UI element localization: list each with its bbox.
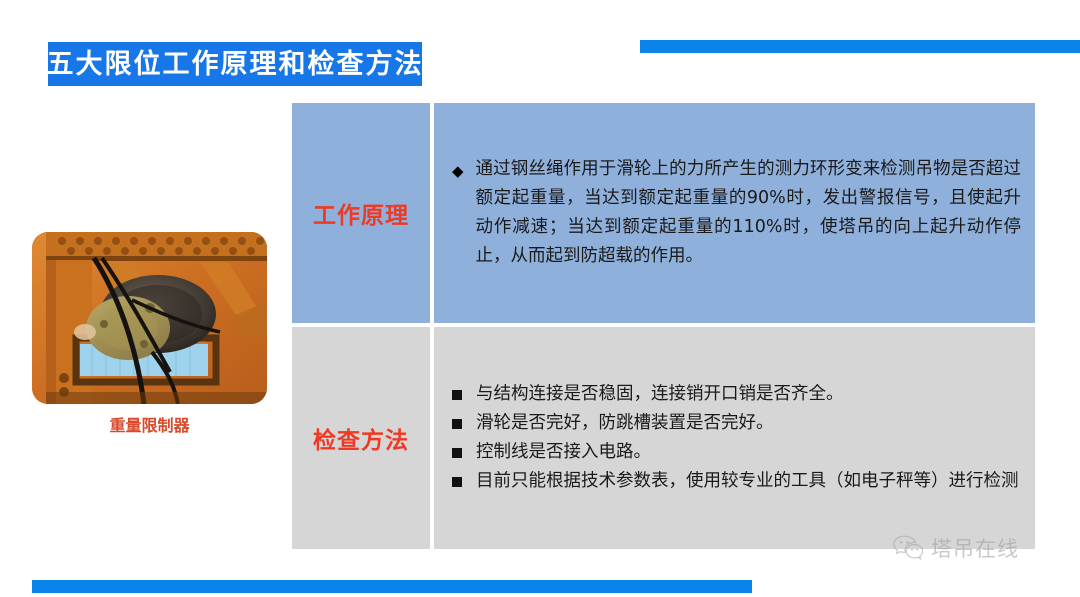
table-row-inspection-method: 检查方法 与结构连接是否稳固，连接销开口销是否齐全。 滑轮是否完好，防跳槽装置是…	[292, 327, 1035, 549]
row-body-working-principle: ◆ 通过钢丝绳作用于滑轮上的力所产生的测力环形变来检测吊物是否超过额定起重量，当…	[434, 103, 1035, 323]
list-item-text: 滑轮是否完好，防跳槽装置是否完好。	[476, 409, 1021, 438]
principle-paragraph: ◆ 通过钢丝绳作用于滑轮上的力所产生的测力环形变来检测吊物是否超过额定起重量，当…	[452, 155, 1021, 271]
list-item-text: 控制线是否接入电路。	[476, 438, 1021, 467]
slide-title-plate: 五大限位工作原理和检查方法	[48, 42, 422, 86]
principle-text: 通过钢丝绳作用于滑轮上的力所产生的测力环形变来检测吊物是否超过额定起重量，当达到…	[476, 155, 1021, 271]
inspection-checklist: 与结构连接是否稳固，连接销开口销是否齐全。 滑轮是否完好，防跳槽装置是否完好。 …	[452, 380, 1021, 496]
row-body-inspection-method: 与结构连接是否稳固，连接销开口销是否齐全。 滑轮是否完好，防跳槽装置是否完好。 …	[434, 327, 1035, 549]
row-label-text: 工作原理	[313, 196, 409, 230]
list-item: 控制线是否接入电路。	[452, 438, 1021, 467]
list-item: 与结构连接是否稳固，连接销开口销是否齐全。	[452, 380, 1021, 409]
list-item: 目前只能根据技术参数表，使用较专业的工具（如电子秤等）进行检测	[452, 467, 1021, 496]
list-item-text: 目前只能根据技术参数表，使用较专业的工具（如电子秤等）进行检测	[476, 467, 1021, 496]
row-label-inspection-method: 检查方法	[292, 327, 430, 549]
page-title: 五大限位工作原理和检查方法	[47, 51, 424, 78]
watermark: 塔吊在线	[893, 533, 1019, 563]
list-item: 滑轮是否完好，防跳槽装置是否完好。	[452, 409, 1021, 438]
wechat-icon	[893, 535, 923, 561]
square-bullet-icon	[452, 390, 462, 400]
diamond-bullet-icon: ◆	[452, 157, 464, 186]
square-bullet-icon	[452, 448, 462, 458]
list-item-text: 与结构连接是否稳固，连接销开口销是否齐全。	[476, 380, 1021, 409]
row-label-text: 检查方法	[313, 421, 409, 455]
square-bullet-icon	[452, 477, 462, 487]
decorative-bar-bottom-left	[32, 580, 752, 593]
table-row-working-principle: 工作原理 ◆ 通过钢丝绳作用于滑轮上的力所产生的测力环形变来检测吊物是否超过额定…	[292, 103, 1035, 323]
photo-caption: 重量限制器	[32, 412, 267, 436]
weight-limiter-photo	[32, 232, 267, 404]
photo-block: 重量限制器	[32, 232, 267, 404]
watermark-text: 塔吊在线	[931, 533, 1019, 563]
info-table: 工作原理 ◆ 通过钢丝绳作用于滑轮上的力所产生的测力环形变来检测吊物是否超过额定…	[292, 103, 1035, 549]
row-label-working-principle: 工作原理	[292, 103, 430, 323]
decorative-bar-top-right	[640, 40, 1080, 53]
square-bullet-icon	[452, 419, 462, 429]
